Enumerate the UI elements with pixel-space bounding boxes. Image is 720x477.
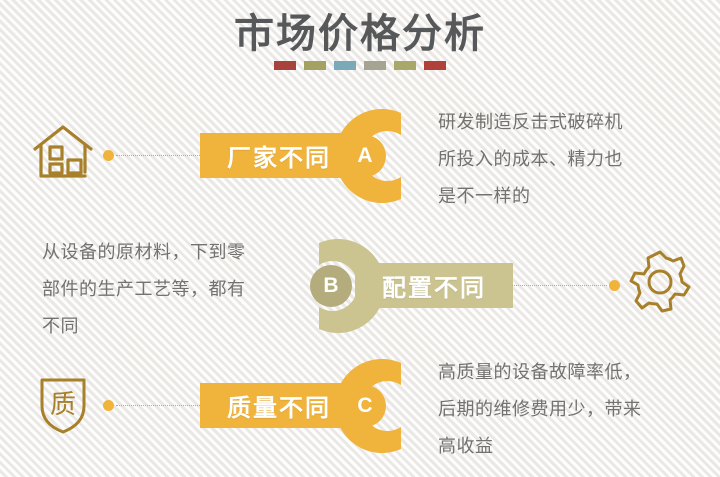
- paragraph-b-line-1: 从设备的原材料，下到零: [42, 234, 246, 271]
- connector-dot: [609, 280, 620, 291]
- house-icon: [28, 116, 98, 188]
- feature-row-c: 质 质量不同 C 高质量的设备故障率低， 后期的维修费用少，带来 高收益: [0, 346, 720, 466]
- badge-letter-c: C: [344, 385, 386, 427]
- paragraph-a-line-1: 研发制造反击式破碎机: [438, 104, 623, 141]
- badge-letter-a: A: [344, 135, 386, 177]
- paragraph-b-line-2: 部件的生产工艺等，都有: [42, 271, 246, 308]
- paragraph-c-line-2: 后期的维修费用少，带来: [438, 391, 642, 428]
- dash-red-1: [274, 61, 296, 70]
- connector-line: [116, 155, 206, 156]
- paragraph-b: 从设备的原材料，下到零 部件的生产工艺等，都有 不同: [42, 234, 246, 345]
- connector-line: [116, 405, 206, 406]
- paragraph-c: 高质量的设备故障率低， 后期的维修费用少，带来 高收益: [438, 354, 642, 465]
- paragraph-a-line-3: 是不一样的: [438, 178, 623, 215]
- paragraph-a: 研发制造反击式破碎机 所投入的成本、精力也 是不一样的: [438, 104, 623, 215]
- dash-gray: [364, 61, 386, 70]
- paragraph-c-line-1: 高质量的设备故障率低，: [438, 354, 642, 391]
- shield-icon-glyph: 质: [50, 390, 76, 420]
- dash-olive-2: [394, 61, 416, 70]
- gear-icon: [625, 246, 695, 318]
- connector-dot: [103, 400, 114, 411]
- feature-row-b: 从设备的原材料，下到零 部件的生产工艺等，都有 不同 B 配置不同: [0, 226, 720, 346]
- connector-c: [103, 399, 208, 411]
- title-divider-dashes: [0, 61, 720, 70]
- connector-dot: [103, 150, 114, 161]
- dash-olive-1: [304, 61, 326, 70]
- infographic-canvas: 市场价格分析 厂家不同: [0, 0, 720, 477]
- dash-red-2: [424, 61, 446, 70]
- paragraph-a-line-2: 所投入的成本、精力也: [438, 141, 623, 178]
- connector-line: [512, 285, 607, 286]
- connector-b: [510, 279, 620, 291]
- paragraph-c-line-3: 高收益: [438, 428, 642, 465]
- page-title: 市场价格分析: [0, 8, 720, 60]
- shield-quality-icon: 质: [28, 366, 98, 438]
- feature-row-a: 厂家不同 A 研发制造反击式破碎机 所投入的成本、精力也 是不一样的: [0, 96, 720, 216]
- label-bar-b[interactable]: 配置不同: [355, 263, 513, 308]
- dash-blue: [334, 61, 356, 70]
- badge-letter-b: B: [310, 265, 352, 307]
- paragraph-b-line-3: 不同: [42, 308, 246, 345]
- connector-a: [103, 149, 208, 161]
